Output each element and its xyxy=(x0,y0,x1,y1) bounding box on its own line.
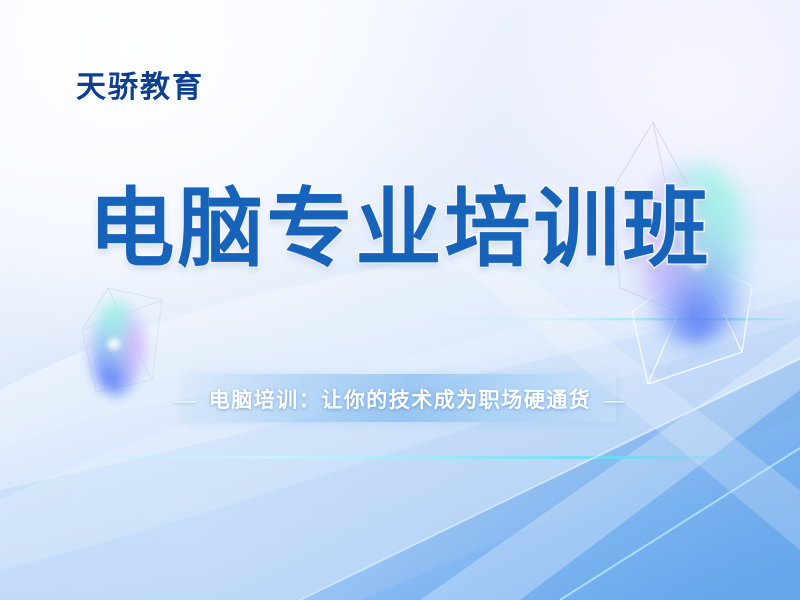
brand-logo-text: 天骄教育 xyxy=(76,62,204,106)
subtitle-text: 电脑培训：让你的技术成为职场硬通货 xyxy=(209,389,592,412)
background-wash-top-left xyxy=(0,0,500,360)
subtitle-dash-left: — xyxy=(174,389,197,413)
sparkle-left-icon xyxy=(104,334,124,354)
decorative-orb-left xyxy=(88,300,146,396)
subtitle-dash-right: — xyxy=(603,389,626,413)
poster-canvas: 天骄教育 电脑专业培训班 —电脑培训：让你的技术成为职场硬通货— xyxy=(0,0,800,600)
page-title: 电脑专业培训班 xyxy=(0,186,800,274)
subtitle-row: —电脑培训：让你的技术成为职场硬通货— xyxy=(0,384,800,414)
background-wash-top-right xyxy=(390,0,800,350)
background-wash-bottom-left xyxy=(0,320,460,600)
